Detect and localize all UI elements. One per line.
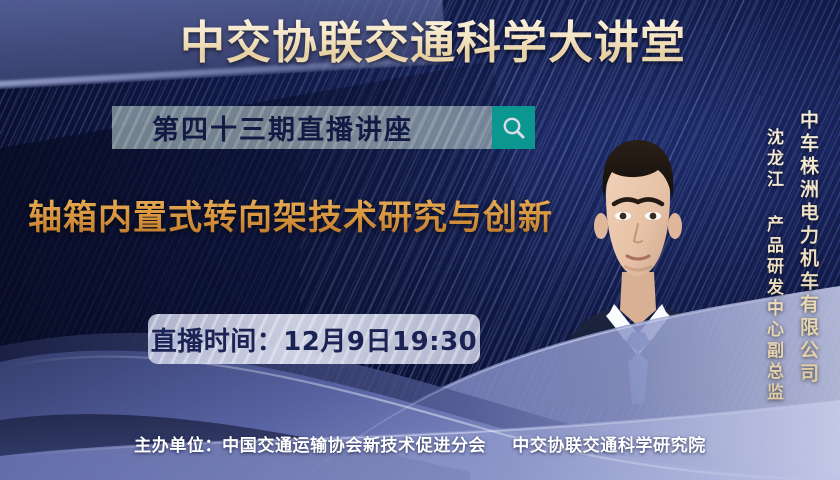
speaker-company: 中车株洲电力机车有限公司 bbox=[795, 110, 822, 386]
speaker-name-and-role: 沈龙江 产品研发中心副总监 bbox=[761, 128, 786, 404]
organizers-footer: 主办单位：中国交通运输协会新技术促进分会 中交协联交通科学研究院 bbox=[0, 431, 840, 456]
search-icon bbox=[501, 115, 527, 141]
broadcast-time-text: 直播时间：12月9日19:30 bbox=[151, 321, 478, 358]
session-bar: 第四十三期直播讲座 bbox=[112, 106, 535, 149]
search-icon-button[interactable] bbox=[492, 106, 535, 149]
page-title: 中交协联交通科学大讲堂 bbox=[0, 14, 840, 72]
lecture-title: 轴箱内置式转向架技术研究与创新 bbox=[28, 196, 553, 240]
webinar-poster: 中交协联交通科学大讲堂 第四十三期直播讲座 轴箱内置式转向架技术研究与创新 直播… bbox=[0, 0, 840, 480]
broadcast-time-badge: 直播时间：12月9日19:30 bbox=[148, 314, 480, 364]
session-label: 第四十三期直播讲座 bbox=[152, 108, 413, 147]
